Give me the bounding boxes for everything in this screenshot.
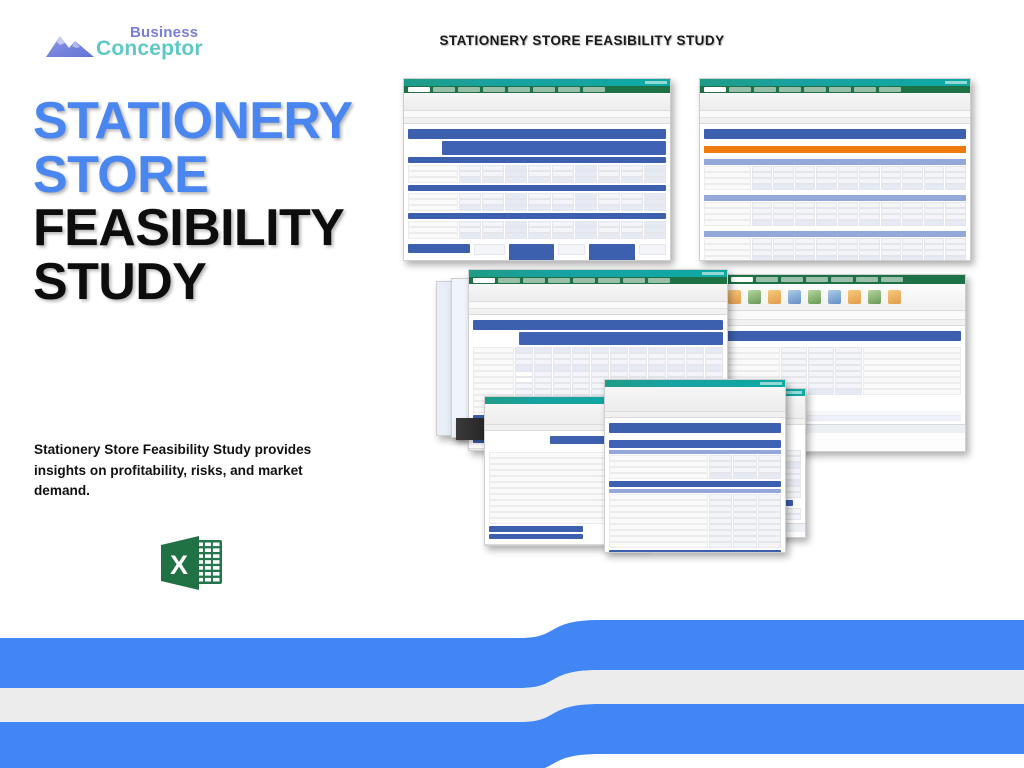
table-header-band — [442, 141, 666, 155]
formula-bar[interactable] — [702, 311, 965, 320]
title-bar — [700, 79, 970, 86]
ribbon-body — [700, 93, 970, 111]
title-bar — [605, 380, 785, 387]
title-bar — [404, 79, 670, 86]
headline-line-1: STATIONERY — [33, 95, 403, 149]
formula-bar[interactable] — [469, 302, 727, 309]
sheet-title-band — [408, 129, 666, 139]
presentation-slide: Business Conceptor STATIONERY STORE FEAS… — [0, 0, 1024, 768]
table-row — [704, 184, 966, 190]
ribbon-body — [404, 93, 670, 111]
ribbon-tabs[interactable] — [700, 86, 970, 93]
screenshot-collage — [396, 66, 996, 626]
ribbon-body — [605, 387, 785, 412]
excel-window-top-left[interactable] — [403, 78, 671, 261]
subtitle-text: Stationery Store Feasibility Study provi… — [34, 440, 344, 502]
headline-line-4: STUDY — [33, 256, 403, 310]
subsection-band — [609, 450, 781, 454]
ribbon-body[interactable] — [702, 284, 965, 311]
totals-band — [609, 550, 781, 553]
excel-window-top-right[interactable] — [699, 78, 971, 261]
table-header-band — [704, 195, 966, 201]
formula-bar[interactable] — [404, 111, 670, 118]
sheet-title-band — [609, 423, 781, 433]
table-row — [408, 205, 666, 211]
sheet-title-band — [704, 129, 966, 139]
table-header-band — [704, 231, 966, 237]
section-band — [609, 481, 781, 487]
table-header-band — [519, 332, 723, 345]
table-row — [704, 220, 966, 226]
page-title: STATIONERY STORE FEASIBILITY STUDY — [33, 95, 403, 309]
header-title: STATIONERY STORE FEASIBILITY STUDY — [0, 33, 1024, 48]
table-row — [609, 542, 781, 548]
sheet-area — [700, 124, 970, 261]
sheet-title-band — [706, 331, 961, 341]
sheet-area — [404, 124, 670, 261]
totals-band — [489, 526, 583, 532]
subsection-band — [609, 489, 781, 493]
table-row — [408, 233, 666, 239]
sheet-title-band — [473, 320, 723, 330]
table-header-band — [609, 440, 781, 448]
title-bar — [469, 270, 727, 277]
totals-band — [489, 534, 583, 539]
section-band — [408, 157, 666, 163]
section-band — [408, 185, 666, 191]
sheet-area — [605, 418, 785, 553]
microsoft-excel-icon: X — [157, 528, 229, 598]
headline-line-3: FEASIBILITY — [33, 202, 403, 256]
headline-line-2: STORE — [33, 149, 403, 203]
table-row — [609, 473, 781, 479]
ribbon-tabs[interactable] — [469, 277, 727, 284]
table-row — [408, 177, 666, 183]
ribbon-tabs[interactable] — [404, 86, 670, 93]
excel-window-front-center[interactable] — [604, 379, 786, 553]
svg-text:X: X — [170, 550, 188, 580]
table-row — [704, 256, 966, 261]
decorative-ribbon — [0, 608, 1024, 768]
ribbon-tabs[interactable] — [702, 275, 965, 284]
table-header-band — [704, 159, 966, 165]
ribbon-body — [469, 284, 727, 302]
year-band — [704, 146, 966, 153]
summary-row — [408, 244, 666, 261]
section-band — [408, 213, 666, 219]
formula-bar[interactable] — [700, 111, 970, 118]
